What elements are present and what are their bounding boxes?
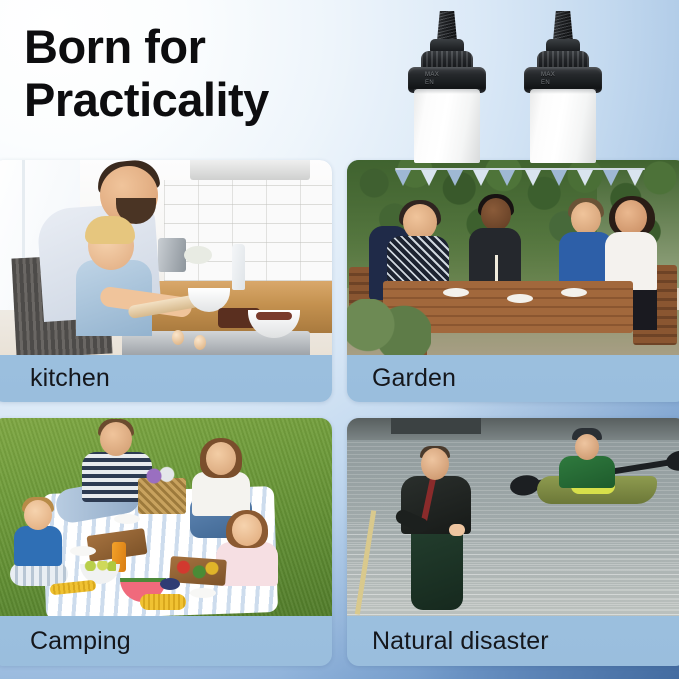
milk-bottle [232,244,245,290]
plate [561,288,587,297]
berry-bowl [160,578,180,590]
plate [70,546,96,556]
flood-photo [347,418,679,616]
bunting-flags [395,164,645,186]
use-case-card-kitchen: kitchen [0,160,332,402]
range-hood [190,160,310,180]
use-case-card-natural-disaster: Natural disaster [347,418,679,666]
child-hair [85,216,135,244]
egg [194,335,206,350]
boy-person [10,500,70,586]
threaded-stem-icon [437,11,457,41]
plate [443,288,469,297]
use-case-card-camping: Camping [0,418,332,666]
filter-body [414,89,480,163]
card-caption-kitchen: kitchen [0,355,332,402]
camping-photo [0,418,332,616]
cap-embossing-text: MAX EN [425,72,439,87]
corn-cobs [140,594,186,610]
kettle [158,238,186,272]
water-ripples [347,524,679,616]
page-title: Born for Practicality [24,21,269,126]
card-caption-garden: Garden [347,355,679,402]
submerged-building [391,418,481,434]
girl-person [214,514,288,604]
kayaker-person [559,424,615,486]
card-caption-natural-disaster: Natural disaster [347,616,679,666]
egg [172,330,184,345]
shrub [347,299,431,355]
wading-person [399,448,475,613]
kitchen-photo [0,160,332,355]
threaded-stem-icon [553,11,573,41]
plate [507,294,533,303]
flood-scene [347,418,679,616]
card-caption-camping: Camping [0,616,332,666]
filter-body [530,89,596,163]
kitchen-scene [0,160,332,355]
product-image-group: MAX EN MAX EN [392,0,679,163]
product-lifestyle-poster: Born for Practicality MAX EN MAX EN [0,0,679,679]
plate [190,588,216,598]
garden-photo [347,160,679,355]
flower-bouquet [142,466,182,486]
picnic-scene [0,418,332,616]
plate [114,514,140,524]
candle [495,255,498,281]
potted-plant [184,246,212,264]
use-case-card-garden: Garden [347,160,679,402]
product-bottle-right: MAX EN [524,13,602,163]
use-case-grid: kitchen [0,160,679,679]
cap-embossing-text: MAX EN [541,72,555,87]
garden-scene [347,160,679,355]
product-bottle-left: MAX EN [408,13,486,163]
